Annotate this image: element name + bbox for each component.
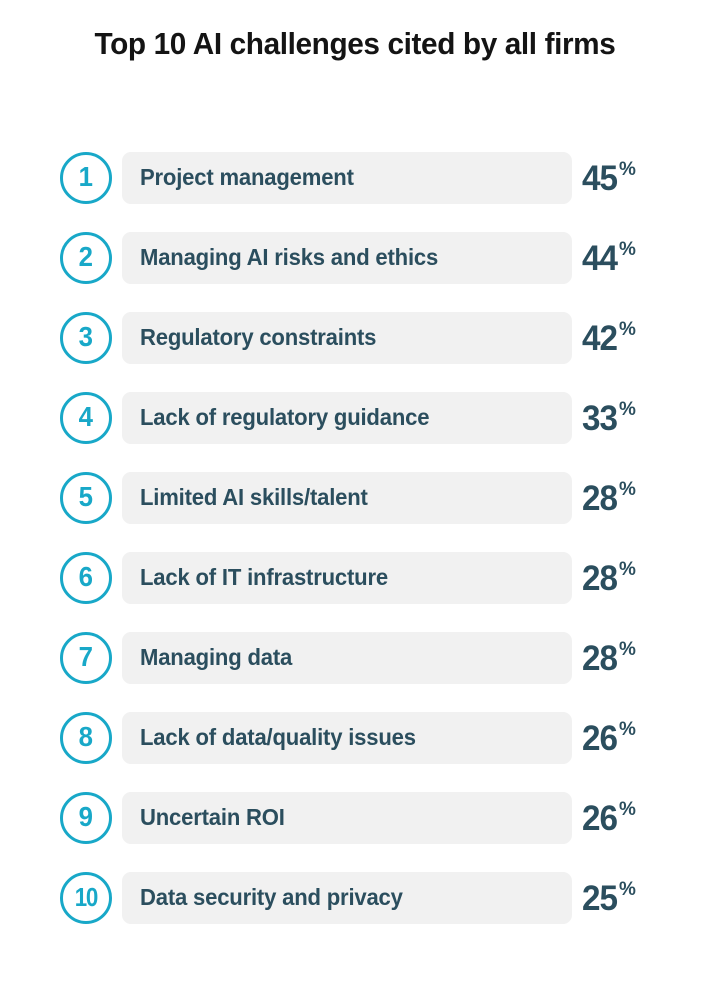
rank-badge: 6 <box>60 552 112 604</box>
percent-sign: % <box>619 240 636 259</box>
list-item: 9 Uncertain ROI 26 % <box>0 792 710 844</box>
rank-badge: 9 <box>60 792 112 844</box>
list-item: 7 Managing data 28 % <box>0 632 710 684</box>
challenge-label: Managing data <box>140 645 292 670</box>
percentage-value: 25 % <box>582 872 636 924</box>
percent-sign: % <box>619 720 636 739</box>
rank-badge: 3 <box>60 312 112 364</box>
page-title: Top 10 AI challenges cited by all firms <box>14 24 696 64</box>
rank-badge: 7 <box>60 632 112 684</box>
percentage-value: 26 % <box>582 792 636 844</box>
rank-badge: 8 <box>60 712 112 764</box>
rank-badge: 4 <box>60 392 112 444</box>
percentage-value: 44 % <box>582 232 636 284</box>
rank-number: 4 <box>79 403 93 431</box>
challenge-label: Limited AI skills/talent <box>140 485 368 510</box>
challenge-label-pill: Limited AI skills/talent <box>122 472 572 524</box>
rank-number: 6 <box>79 563 93 591</box>
percentage-number: 44 <box>582 241 617 276</box>
list-item: 6 Lack of IT infrastructure 28 % <box>0 552 710 604</box>
percent-sign: % <box>619 560 636 579</box>
rank-number: 5 <box>79 483 93 511</box>
percent-sign: % <box>619 480 636 499</box>
percentage-value: 28 % <box>582 552 636 604</box>
list-item: 10 Data security and privacy 25 % <box>0 872 710 924</box>
ranked-challenge-list: 1 Project management 45 % 2 Managing AI … <box>0 152 710 952</box>
percentage-number: 25 <box>582 881 617 916</box>
challenge-label-pill: Lack of data/quality issues <box>122 712 572 764</box>
rank-number: 10 <box>75 884 97 910</box>
challenge-label: Managing AI risks and ethics <box>140 245 438 270</box>
rank-number: 1 <box>79 163 93 191</box>
percentage-value: 33 % <box>582 392 636 444</box>
rank-badge: 1 <box>60 152 112 204</box>
percent-sign: % <box>619 640 636 659</box>
list-item: 3 Regulatory constraints 42 % <box>0 312 710 364</box>
challenge-label: Data security and privacy <box>140 885 403 910</box>
percent-sign: % <box>619 880 636 899</box>
challenge-label-pill: Regulatory constraints <box>122 312 572 364</box>
infographic-root: Top 10 AI challenges cited by all firms … <box>0 0 710 992</box>
challenge-label-pill: Project management <box>122 152 572 204</box>
rank-badge: 2 <box>60 232 112 284</box>
challenge-label: Regulatory constraints <box>140 325 376 350</box>
list-item: 1 Project management 45 % <box>0 152 710 204</box>
percentage-number: 28 <box>582 561 617 596</box>
percent-sign: % <box>619 400 636 419</box>
percentage-value: 28 % <box>582 632 636 684</box>
percent-sign: % <box>619 800 636 819</box>
percent-sign: % <box>619 160 636 179</box>
challenge-label: Lack of IT infrastructure <box>140 565 388 590</box>
rank-number: 3 <box>79 323 93 351</box>
challenge-label: Lack of regulatory guidance <box>140 405 429 430</box>
rank-number: 2 <box>79 243 93 271</box>
challenge-label-pill: Uncertain ROI <box>122 792 572 844</box>
percentage-value: 26 % <box>582 712 636 764</box>
list-item: 8 Lack of data/quality issues 26 % <box>0 712 710 764</box>
percentage-value: 28 % <box>582 472 636 524</box>
rank-number: 8 <box>79 723 93 751</box>
list-item: 4 Lack of regulatory guidance 33 % <box>0 392 710 444</box>
rank-number: 7 <box>79 643 93 671</box>
challenge-label: Project management <box>140 165 354 190</box>
percentage-number: 28 <box>582 481 617 516</box>
challenge-label: Uncertain ROI <box>140 805 285 830</box>
challenge-label-pill: Managing AI risks and ethics <box>122 232 572 284</box>
percentage-value: 45 % <box>582 152 636 204</box>
percentage-number: 26 <box>582 721 617 756</box>
challenge-label-pill: Data security and privacy <box>122 872 572 924</box>
percentage-number: 33 <box>582 401 617 436</box>
challenge-label-pill: Lack of IT infrastructure <box>122 552 572 604</box>
challenge-label-pill: Managing data <box>122 632 572 684</box>
rank-badge: 10 <box>60 872 112 924</box>
percentage-value: 42 % <box>582 312 636 364</box>
challenge-label: Lack of data/quality issues <box>140 725 416 750</box>
challenge-label-pill: Lack of regulatory guidance <box>122 392 572 444</box>
list-item: 5 Limited AI skills/talent 28 % <box>0 472 710 524</box>
rank-number: 9 <box>79 803 93 831</box>
percentage-number: 26 <box>582 801 617 836</box>
percentage-number: 42 <box>582 321 617 356</box>
percentage-number: 28 <box>582 641 617 676</box>
list-item: 2 Managing AI risks and ethics 44 % <box>0 232 710 284</box>
percentage-number: 45 <box>582 161 617 196</box>
percent-sign: % <box>619 320 636 339</box>
rank-badge: 5 <box>60 472 112 524</box>
